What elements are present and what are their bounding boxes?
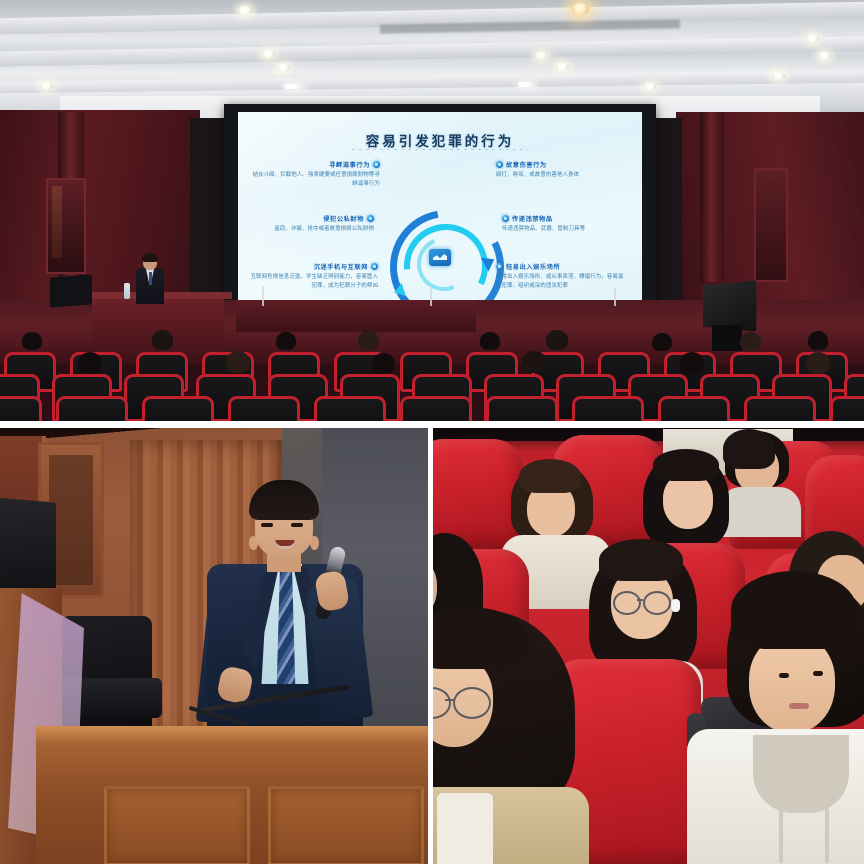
lecturer-eye xyxy=(261,523,273,527)
slide-item-heading: 传递违禁物品 xyxy=(502,214,634,223)
slide-item-body: 经常出入娱乐场所、或从事卖淫、嫖娼行为，容易滋生犯罪、组织或深的违法犯罪 xyxy=(496,273,628,291)
hoodie-drawstring xyxy=(779,785,783,863)
student-hair-front xyxy=(599,539,683,581)
student-hair-front xyxy=(653,449,719,481)
glasses-icon xyxy=(453,687,491,719)
lecturer-hair xyxy=(249,480,319,520)
student-eye xyxy=(813,671,823,676)
student-face xyxy=(663,473,713,529)
cycle-diagram xyxy=(388,208,492,312)
bullet-dot-icon xyxy=(502,215,509,222)
downlight-icon xyxy=(644,83,656,91)
student-hair-front xyxy=(723,429,775,469)
slide-item-heading-text: 故意伤害行为 xyxy=(506,160,547,169)
bullet-dot-icon xyxy=(496,161,503,168)
panel-auditorium-wide: 容易引发犯罪的行为 寻衅滋事行为 结伙斗殴、拦截他人、强拿硬要或任意损毁财 xyxy=(0,0,864,424)
slide-item-right-1: 故意伤害行为 殴打、辱骂、或故意伤害他人身体 xyxy=(496,160,628,180)
desk-front-panel xyxy=(104,786,250,864)
downlight-icon xyxy=(262,50,275,58)
panel-audience-closeup xyxy=(433,425,864,864)
slide-item-body: 结伙斗殴、拦截他人、强拿硬要或任意损毁财物等寻衅滋事行为 xyxy=(248,171,380,189)
microphone-stand xyxy=(614,288,616,306)
glasses-bridge xyxy=(637,599,643,601)
glasses-icon xyxy=(613,591,641,615)
downlight-icon xyxy=(277,64,290,72)
slide-item-heading: 轻易出入娱乐场所 xyxy=(496,262,628,271)
lecturer-mouth xyxy=(275,540,295,549)
slide-item-right-2: 传递违禁物品 传递违禁物品、武器、管制刀具等 xyxy=(502,214,634,234)
slide-item-heading-text: 侵犯公私财物 xyxy=(323,214,364,223)
slide-title: 容易引发犯罪的行为 xyxy=(238,130,642,150)
slide-item-body: 盗窃、诈骗、抢夺或者故意损毁公私财物 xyxy=(242,225,374,234)
earbud-icon xyxy=(671,599,680,612)
presenter-hair xyxy=(142,253,158,262)
downlight-icon xyxy=(818,52,831,60)
hoodie-collar xyxy=(753,735,849,813)
bullet-dot-icon xyxy=(367,215,374,222)
stage-loudspeaker xyxy=(703,280,756,331)
downlight-icon xyxy=(535,52,548,60)
bullet-dot-icon xyxy=(373,161,380,168)
slide-item-left-2: 侵犯公私财物 盗窃、诈骗、抢夺或者故意损毁公私财物 xyxy=(242,214,374,234)
downlight-icon xyxy=(556,63,569,71)
slide-item-body: 互联网色情信息泛滥，学生缺乏辨别能力，容易堕入犯罪，成为犯罪分子的帮凶 xyxy=(246,273,378,291)
microphone-stand xyxy=(262,286,264,306)
slide-item-right-3: 轻易出入娱乐场所 经常出入娱乐场所、或从事卖淫、嫖娼行为，容易滋生犯罪、组织或深… xyxy=(496,262,628,291)
downlight-icon xyxy=(806,35,819,43)
loudspeaker-stand xyxy=(712,325,742,351)
slide-item-left-1: 寻衅滋事行为 结伙斗殴、拦截他人、强拿硬要或任意损毁财物等寻衅滋事行为 xyxy=(248,160,380,189)
slide-item-heading-text: 轻易出入娱乐场所 xyxy=(506,262,560,271)
downlight-icon xyxy=(40,82,53,90)
panel-divider-vertical xyxy=(428,421,433,864)
slide-item-body: 殴打、辱骂、或故意伤害他人身体 xyxy=(496,171,628,180)
strip-light-icon xyxy=(284,84,304,89)
downlight-icon xyxy=(772,72,785,80)
slide-item-heading: 故意伤害行为 xyxy=(496,160,628,169)
presenter-at-podium xyxy=(135,255,165,303)
desk-top-edge xyxy=(36,726,428,742)
panel-speaker-closeup xyxy=(0,428,428,864)
slide-item-heading: 寻衅滋事行为 xyxy=(248,160,380,169)
desk-front-panel xyxy=(268,786,424,864)
downlight-icon xyxy=(238,6,252,15)
hoodie-drawstring xyxy=(825,785,829,863)
microphone-stand xyxy=(430,286,432,306)
glasses-icon xyxy=(643,591,671,615)
slide-item-heading-text: 寻衅滋事行为 xyxy=(329,160,370,169)
student-eye xyxy=(779,673,789,678)
bullet-dot-icon xyxy=(371,263,378,270)
student-mouth xyxy=(789,703,809,709)
student-inner-shirt xyxy=(437,793,493,864)
water-bottle xyxy=(124,283,130,299)
presenter-tie xyxy=(149,272,152,285)
slide-item-body: 传递违禁物品、武器、管制刀具等 xyxy=(502,225,634,234)
door[interactable] xyxy=(46,178,86,274)
collage-root: 容易引发犯罪的行为 寻衅滋事行为 结伙斗殴、拦截他人、强拿硬要或任意损毁财 xyxy=(0,0,864,864)
stage-monitor xyxy=(50,275,92,308)
slide-item-heading-text: 沉迷手机与互联网 xyxy=(314,262,368,271)
slide-item-heading: 沉迷手机与互联网 xyxy=(246,262,378,271)
student-face xyxy=(749,635,835,733)
stage-table xyxy=(236,300,476,332)
downlight-icon xyxy=(572,3,589,15)
glasses-bridge xyxy=(445,699,455,701)
door[interactable] xyxy=(754,168,788,282)
student-top xyxy=(719,487,801,537)
slide-item-heading-text: 传递违禁物品 xyxy=(512,214,553,223)
lecturer-eye xyxy=(291,523,303,527)
student-hair-front xyxy=(519,459,581,493)
strip-light-icon xyxy=(518,82,536,87)
ceiling-band xyxy=(0,36,864,66)
door-panel xyxy=(52,186,62,258)
slide-title-underline xyxy=(352,149,528,150)
wall-column xyxy=(700,112,724,282)
slide-item-heading: 侵犯公私财物 xyxy=(242,214,374,223)
slide-item-left-3: 沉迷手机与互联网 互联网色情信息泛滥，学生缺乏辨别能力，容易堕入犯罪，成为犯罪分… xyxy=(246,262,378,291)
bullet-dot-icon xyxy=(496,263,503,270)
student-hair-front xyxy=(731,571,857,649)
chart-bar-icon xyxy=(429,249,451,266)
